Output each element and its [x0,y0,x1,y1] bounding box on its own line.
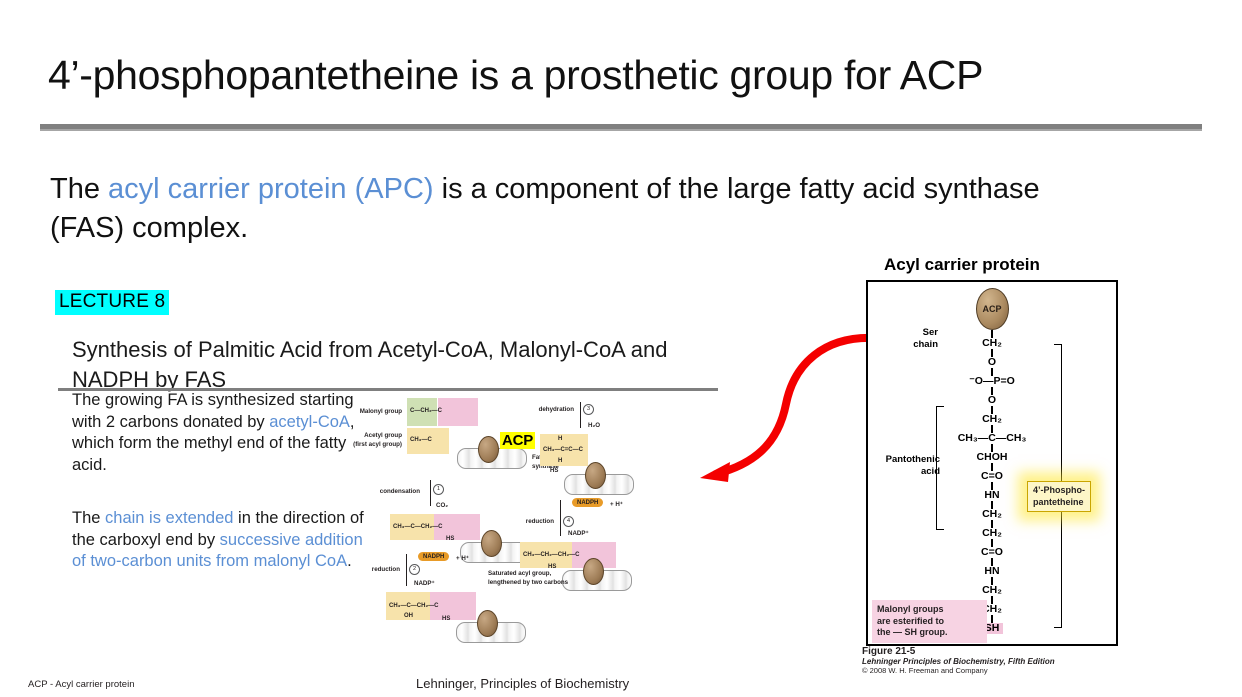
acetyl-group-label-1: Acetyl group [340,432,402,440]
caption-source: Lehninger Principles of Biochemistry, Fi… [862,657,1092,666]
pantothenic-line2: acid [874,466,940,478]
intro-text-before: The [50,173,108,205]
chain-node-2: ⁻O—P=O [946,376,1038,387]
chem-malonyl: C—CH₂—C [410,408,442,414]
page-title: 4’-phosphopantetheine is a prosthetic gr… [48,52,983,99]
acp-blob-5 [583,558,604,585]
acetyl-group-label-2: (first acyl group) [336,441,402,449]
chain-node-8: HN [946,490,1038,501]
nadph-pill-1: NADPH [418,552,449,561]
para2-chain-extended: chain is extended [105,509,233,527]
acp-panel-heading: Acyl carrier protein [884,255,1040,275]
saturated-label-2: lengthened by two carbons [488,579,568,587]
chem-hydroxy: CH₃—C—CH₂—C [389,603,438,609]
body-paragraph-1: The growing FA is synthesized starting w… [72,390,364,476]
footer-source: Lehninger, Principles of Biochemistry [416,676,629,691]
reduction-label-4: reduction [494,518,554,526]
malonyl-thioester-box [438,398,478,426]
acp-blob-4 [585,462,606,489]
nadp-plus-2: NADP⁺ [568,530,589,538]
acp-sphere: ACP [976,288,1009,330]
body-paragraph-2: The chain is extended in the direction o… [72,508,364,573]
chem-h-bottom: H [558,458,562,464]
water-label: H₂O [588,422,600,430]
step-circle-2: 2 [409,564,420,575]
title-divider [40,124,1202,131]
reduction-4-arrow [560,500,561,536]
chem-acetyl: CH₃—C [410,437,432,443]
chem-enoyl: CH₃—C=C—C [543,447,583,453]
dehydration-label: dehydration [516,406,574,414]
chem-hs-1: HS [446,536,454,542]
intro-text-highlight: acyl carrier protein (APC) [108,173,434,205]
acp-blob-1 [478,436,499,463]
phospho-callout-line1: 4’-Phospho- [1033,485,1085,497]
nadph-pill-2: NADPH [572,498,603,507]
acp-blob-2 [481,530,502,557]
chain-node-6: CHOH [946,452,1038,463]
acp-highlight-label: ACP [500,432,535,449]
condensation-label: condensation [362,488,420,496]
acp-chain-structure: ACP CH₂ O ⁻O—P=O O CH₂ CH₃—C—CH₃ CHOH C=… [946,288,1038,634]
footer-abbreviation: ACP - Acyl carrier protein [28,679,134,690]
step-circle-3: 3 [583,404,594,415]
chain-node-7: C=O [946,471,1038,482]
chem-saturated: CH₃—CH₂—CH₂—C [523,552,579,558]
reduction-label-2: reduction [338,566,400,574]
ser-chain-line2: chain [880,339,938,351]
ser-chain-line1: Ser [880,327,938,339]
chem-hs-3: HS [550,468,558,474]
malonyl-note: Malonyl groups are esterified to the — S… [872,600,987,643]
acp-panel: Ser chain Pantothenic acid ACP CH₂ O ⁻O—… [866,280,1118,646]
pointer-arrow-icon [694,322,880,494]
chain-node-4: CH₂ [946,414,1038,425]
step-circle-4: 4 [563,516,574,527]
malonyl-group-label: Malonyl group [344,408,402,416]
reduction-2-arrow [406,554,407,586]
chem-condensed: CH₃—C—CH₂—C [393,524,442,530]
condensation-arrow [430,480,431,506]
para1-acetyl-coa: acetyl-CoA [269,413,350,431]
figure-caption: Figure 21-5 Lehninger Principles of Bioc… [862,646,1092,675]
intro-paragraph: The acyl carrier protein (APC) is a comp… [50,170,1110,247]
pantothenic-line1: Pantothenic [874,454,940,466]
chain-node-0: CH₂ [946,338,1038,349]
chem-hs-2: HS [442,616,450,622]
chem-h-top: H [558,436,562,442]
chem-oh: OH [404,613,413,619]
phospho-callout-line2: pantetheine [1033,497,1085,509]
malonyl-note-line2: are esterified to [877,616,983,628]
chain-node-3: O [946,395,1038,406]
step-circle-1: 1 [433,484,444,495]
pantothenic-acid-label: Pantothenic acid [874,454,940,478]
phosphopantetheine-callout: 4’-Phospho- pantetheine [1027,481,1091,512]
fas-cycle-diagram: C—CH₂—C CH₃—C Malonyl group Acetyl group… [352,392,724,654]
chain-node-12: HN [946,566,1038,577]
dehydration-arrow [580,402,581,428]
caption-figure-number: Figure 21-5 [862,646,1092,657]
caption-copyright: © 2008 W. H. Freeman and Company [862,666,1092,675]
malonyl-note-line1: Malonyl groups [877,604,983,616]
chain-node-5: CH₃—C—CH₃ [946,433,1038,444]
chain-node-11: C=O [946,547,1038,558]
nadph-proton-1: + H⁺ [456,555,469,563]
chain-node-10: CH₂ [946,528,1038,539]
nadph-proton-2: + H⁺ [610,501,623,509]
para2-part1: The [72,509,105,527]
saturated-label-1: Saturated acyl group, [488,570,551,578]
acp-blob-3 [477,610,498,637]
co2-label: CO₂ [436,502,448,510]
chain-node-13: CH₂ [946,585,1038,596]
chain-node-9: CH₂ [946,509,1038,520]
chain-node-1: O [946,357,1038,368]
nadp-plus-1: NADP⁺ [414,580,435,588]
inner-slide-heading: Synthesis of Palmitic Acid from Acetyl-C… [72,335,692,396]
lecture-badge: LECTURE 8 [55,290,169,315]
malonyl-note-line3: the — SH group. [877,627,983,639]
ser-chain-label: Ser chain [880,327,938,351]
pantothenic-bracket [936,406,944,530]
